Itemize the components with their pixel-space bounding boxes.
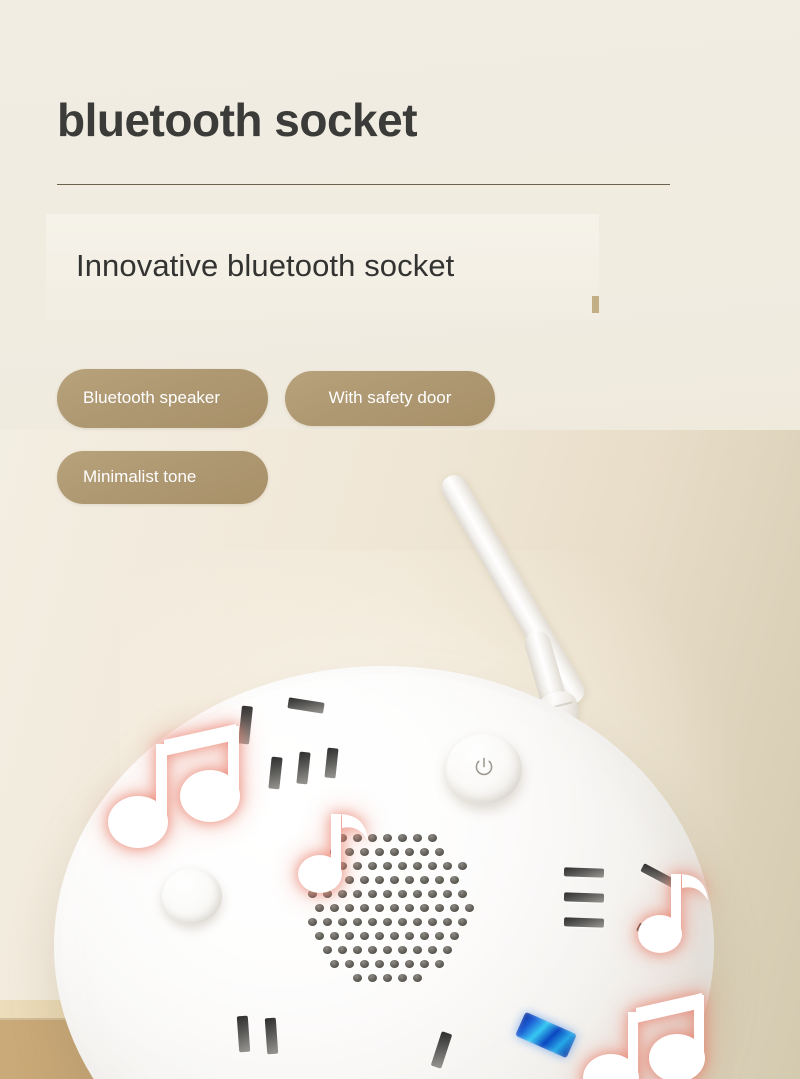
speaker-grille-hole [413,918,422,926]
speaker-grille-hole [353,918,362,926]
speaker-grille-hole [398,918,407,926]
round-button[interactable] [162,868,222,924]
feature-tag-label: With safety door [329,386,452,411]
feature-tag-safety-door[interactable]: With safety door [285,371,495,426]
speaker-grille-hole [375,960,384,968]
speaker-grille-hole [398,890,407,898]
socket-slot [564,867,604,877]
speaker-grille-hole [450,904,459,912]
speaker-grille-hole [315,904,324,912]
speaker-grille-hole [375,904,384,912]
speaker-grille-hole [398,862,407,870]
speaker-grille-hole [360,932,369,940]
speaker-grille-hole [405,848,414,856]
speaker-grille-hole [458,918,467,926]
speaker-grille-hole [353,974,362,982]
speaker-grille-hole [390,904,399,912]
speaker-grille-hole [405,876,414,884]
power-button[interactable] [446,734,522,804]
speaker-grille-hole [360,960,369,968]
speaker-grille-hole [383,946,392,954]
accent-mark [592,296,599,313]
speaker-grille-hole [413,974,422,982]
speaker-grille-hole [450,876,459,884]
speaker-grille-hole [443,918,452,926]
speaker-grille-hole [443,862,452,870]
feature-tag-label: Bluetooth speaker [83,386,220,411]
speaker-grille-hole [390,932,399,940]
speaker-grille-hole [428,834,437,842]
speaker-grille-hole [443,946,452,954]
speaker-grille-hole [428,862,437,870]
speaker-grille-hole [420,848,429,856]
speaker-grille-hole [330,960,339,968]
speaker-grille-hole [338,918,347,926]
speaker-grille-hole [345,932,354,940]
speaker-grille-hole [413,862,422,870]
feature-tag-label: Minimalist tone [83,465,196,490]
speaker-grille-hole [368,918,377,926]
speaker-grille-hole [420,960,429,968]
speaker-grille-hole [428,890,437,898]
speaker-grille-hole [435,848,444,856]
speaker-grille-hole [390,848,399,856]
speaker-grille-hole [383,918,392,926]
speaker-grille-hole [398,974,407,982]
speaker-grille-hole [323,946,332,954]
speaker-grille-hole [330,904,339,912]
speaker-grille-hole [435,960,444,968]
speaker-grille-hole [383,890,392,898]
socket-slot [564,892,604,902]
speaker-grille-hole [345,904,354,912]
speaker-grille-hole [353,946,362,954]
speaker-grille-hole [390,960,399,968]
speaker-grille-hole [338,946,347,954]
speaker-grille-hole [413,890,422,898]
title-divider [57,184,670,185]
speaker-grille-hole [368,974,377,982]
speaker-grille-hole [398,946,407,954]
speaker-grille-hole [413,834,422,842]
speaker-grille-hole [420,876,429,884]
subtitle: Innovative bluetooth socket [76,248,454,284]
speaker-grille-hole [450,932,459,940]
music-note-icon [104,718,250,858]
speaker-grille-hole [360,904,369,912]
speaker-grille-hole [323,918,332,926]
speaker-grille-hole [375,932,384,940]
page-title: bluetooth socket [57,96,417,144]
speaker-grille-hole [435,904,444,912]
speaker-grille-hole [398,834,407,842]
speaker-grille-hole [368,946,377,954]
speaker-grille-hole [330,932,339,940]
speaker-grille-hole [405,932,414,940]
speaker-grille-hole [345,960,354,968]
music-note-icon [582,988,714,1079]
speaker-grille-hole [405,904,414,912]
speaker-grille-hole [435,932,444,940]
product-banner-page: bluetooth socket Innovative bluetooth so… [0,0,800,1079]
speaker-grille-hole [390,876,399,884]
speaker-grille-hole [413,946,422,954]
speaker-grille-hole [420,904,429,912]
speaker-grille-hole [405,960,414,968]
speaker-grille-hole [428,918,437,926]
speaker-grille-hole [428,946,437,954]
power-icon [473,756,495,778]
music-note-icon [636,866,718,958]
speaker-grille-hole [383,834,392,842]
speaker-grille-hole [458,862,467,870]
feature-tag-bluetooth-speaker[interactable]: Bluetooth speaker [57,369,268,428]
speaker-grille-hole [383,862,392,870]
speaker-grille-hole [383,974,392,982]
speaker-grille-hole [435,876,444,884]
speaker-grille-hole [458,890,467,898]
music-note-icon [298,806,378,898]
feature-tag-minimalist-tone[interactable]: Minimalist tone [57,451,268,504]
socket-slot [564,917,604,927]
speaker-grille-hole [420,932,429,940]
speaker-grille-hole [315,932,324,940]
speaker-grille-hole [443,890,452,898]
speaker-grille-hole [465,904,474,912]
speaker-grille-hole [308,918,317,926]
